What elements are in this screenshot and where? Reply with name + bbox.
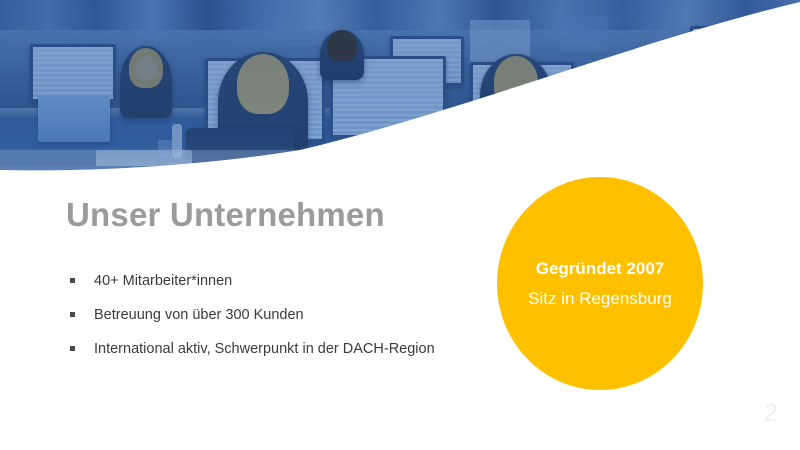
cup [400, 138, 414, 154]
monitor-stand-center-right [378, 138, 398, 150]
highlight-circle-line2: Sitz in Regensburg [528, 289, 672, 309]
list-item: Betreuung von über 300 Kunden [66, 306, 496, 324]
monitor-bezel [690, 26, 766, 78]
monitor-screen [693, 29, 763, 75]
list-item: 40+ Mitarbeiter*innen [66, 272, 496, 290]
list-item-label: 40+ Mitarbeiter*innen [94, 273, 232, 289]
list-item: International aktiv, Schwerpunkt in der … [66, 340, 496, 358]
page-title: Unser Unternehmen [66, 196, 385, 234]
list-item-label: Betreuung von über 300 Kunden [94, 307, 304, 323]
slide: Unser Unternehmen 40+ Mitarbeiter*innen … [0, 0, 800, 450]
bullet-square-icon [70, 312, 75, 317]
office-photo [0, 0, 800, 190]
monitor-far-3 [690, 26, 766, 78]
photo-bottom-fade [0, 146, 800, 190]
bullet-list: 40+ Mitarbeiter*innen Betreuung von über… [66, 272, 496, 374]
bullet-square-icon [70, 346, 75, 351]
page-number: 2 [764, 399, 778, 428]
highlight-circle-line1: Gegründet 2007 [536, 259, 665, 279]
header-image-band [0, 0, 800, 190]
list-item-label: International aktiv, Schwerpunkt in der … [94, 341, 435, 357]
picture-frame [672, 40, 698, 66]
bullet-square-icon [70, 278, 75, 283]
highlight-circle: Gegründet 2007 Sitz in Regensburg [497, 177, 703, 390]
desk-front-edge [0, 172, 800, 190]
plant [640, 44, 674, 84]
